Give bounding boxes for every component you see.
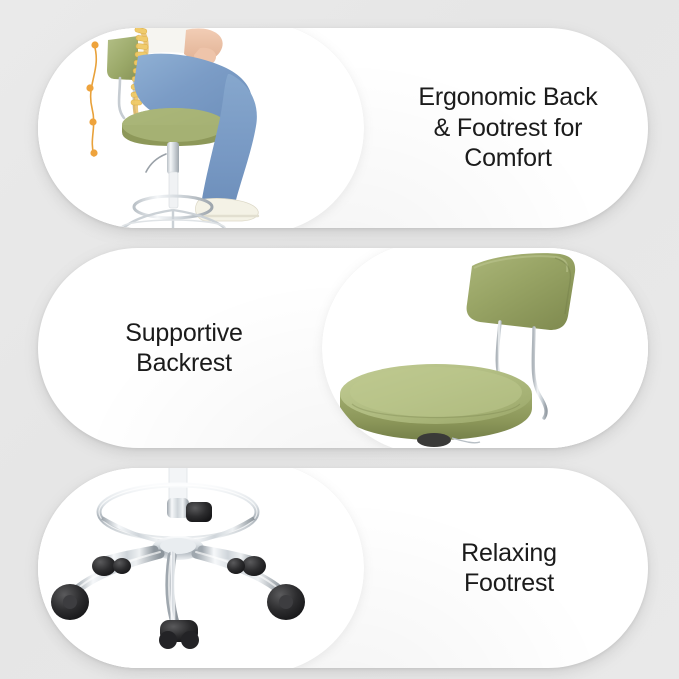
- gas-cylinder: [167, 142, 179, 174]
- caption-line: Ergonomic Back: [418, 82, 597, 113]
- caption-line: Footrest: [461, 568, 557, 599]
- column-collar: [167, 498, 189, 518]
- caption-line: Backrest: [125, 348, 243, 379]
- caster-front-left: [51, 584, 89, 620]
- footrest-clamp: [186, 502, 212, 522]
- caption-line: & Footrest for: [418, 113, 597, 144]
- caster-front-right: [267, 584, 305, 620]
- stool-seat-and-backrest-closeup: [322, 248, 648, 448]
- caption-line: Comfort: [418, 143, 597, 174]
- seat-hub: [417, 433, 451, 447]
- caption-line: Supportive: [125, 318, 243, 349]
- seat-cushion: [340, 364, 532, 440]
- caster-rear-right: [242, 556, 266, 576]
- feature-panel-backrest: Supportive Backrest: [38, 248, 648, 448]
- panel-2-image-pill: [322, 248, 648, 448]
- backrest-pad: [467, 253, 576, 330]
- caption-line: Relaxing: [461, 538, 557, 569]
- caster-rear-left: [92, 556, 116, 576]
- panel-3-caption: Relaxing Footrest: [384, 468, 634, 668]
- feature-panel-ergonomic: Ergonomic Back & Footrest for Comfort: [38, 28, 648, 228]
- chrome-five-star-base-with-footrest-ring: [38, 468, 364, 668]
- panel-3-image-pill: [38, 468, 364, 668]
- panel-2-caption: Supportive Backrest: [50, 248, 318, 448]
- feature-panel-footrest: Relaxing Footrest: [38, 468, 648, 668]
- person-seated-on-stool-with-spine-alignment: [38, 28, 364, 228]
- panel-1-image-pill: [38, 28, 364, 228]
- panel-1-caption: Ergonomic Back & Footrest for Comfort: [378, 28, 638, 228]
- infographic-board: Ergonomic Back & Footrest for Comfort Su…: [0, 0, 679, 679]
